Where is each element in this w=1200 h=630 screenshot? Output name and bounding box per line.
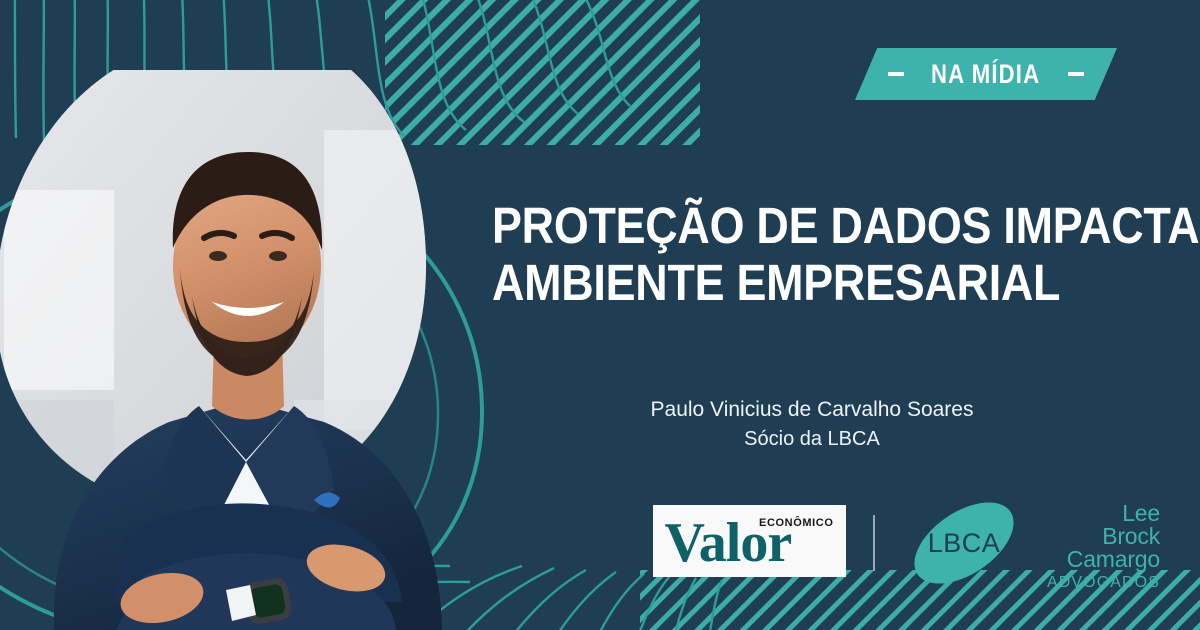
author-role: Sócio da LBCA [492,425,1132,454]
byline: Paulo Vinicius de Carvalho Soares Sócio … [492,395,1132,454]
badge-left-dash-icon [888,72,904,76]
lbca-wordmark: Lee Brock Camargo ADVOGADOS [1028,502,1160,592]
lbca-line-2: Brock [1028,525,1160,548]
logo-row: Valor ECONÔMICO LBCA Lee Brock Camargo A… [640,498,1160,590]
lbca-line-4: ADVOGADOS [1028,574,1160,592]
lbca-mark-text: LBCA [928,528,1001,558]
lbca-ellipse-mark: LBCA [902,496,1027,591]
valor-economico-logo: Valor ECONÔMICO [653,505,846,577]
badge-label: NA MÍDIA [931,61,1040,88]
speaker-photo [0,70,464,630]
valor-economico-superscript: ECONÔMICO [759,517,833,529]
headline-line-2: AMBIENTE EMPRESARIAL [492,254,1073,311]
headline: PROTEÇÃO DE DADOS IMPACTA AMBIENTE EMPRE… [492,197,1152,311]
lbca-line-3: Camargo [1028,548,1160,571]
headline-line-1: PROTEÇÃO DE DADOS IMPACTA [492,197,1073,254]
na-midia-badge: NA MÍDIA [855,48,1117,100]
logo-divider [873,515,875,571]
badge-right-dash-icon [1068,72,1084,76]
lbca-line-1: Lee [1028,502,1160,525]
author-name: Paulo Vinicius de Carvalho Soares [492,395,1132,425]
promo-card: NA MÍDIA PROTEÇÃO DE DADOS IMPACTA AMBIE… [0,0,1200,630]
